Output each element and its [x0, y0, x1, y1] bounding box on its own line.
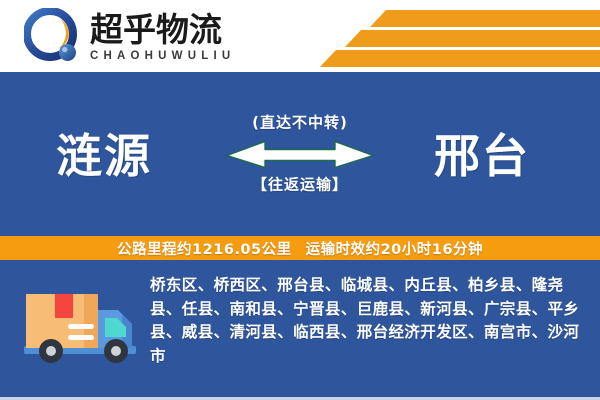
- logo-text-block: 超乎物流 CHAOHUWULIU: [90, 12, 235, 63]
- banner-header: 超乎物流 CHAOHUWULIU: [0, 0, 600, 72]
- duration-text: 运输时效约20小时16分钟: [306, 238, 483, 259]
- route-panel: 涟源 (直达不中转) 【往返运输】 邢台: [0, 72, 600, 234]
- stripe-middle: [345, 30, 600, 47]
- stripe-bottom: [320, 50, 600, 67]
- service-area-list: 桥东区、桥西区、邢台县、临城县、内丘县、柏乡县、隆尧县、任县、南和县、宁晋县、巨…: [150, 262, 600, 368]
- brand-name-cn: 超乎物流: [90, 12, 235, 48]
- distance-text: 公路里程约1216.05公里: [117, 238, 292, 259]
- stripe-top: [370, 10, 600, 27]
- direct-shipping-note: (直达不中转): [205, 112, 395, 133]
- double-headed-arrow-icon: [205, 135, 395, 171]
- circle-crescent-logo-icon: [24, 8, 82, 66]
- service-area-panel: 桥东区、桥西区、邢台县、临城县、内丘县、柏乡县、隆尧县、任县、南和县、宁晋县、巨…: [0, 262, 600, 400]
- destination-city: 邢台: [434, 120, 530, 186]
- round-trip-note: 【往返运输】: [205, 174, 395, 195]
- delivery-truck-icon: [0, 262, 150, 372]
- logistics-route-banner: 超乎物流 CHAOHUWULIU 涟源 (直达不中转) 【往返运输】 邢台: [0, 0, 600, 400]
- origin-city: 涟源: [56, 120, 152, 186]
- route-arrow-block: (直达不中转) 【往返运输】: [205, 112, 395, 195]
- decorative-orange-stripes: [310, 0, 600, 72]
- company-logo: 超乎物流 CHAOHUWULIU: [24, 8, 235, 66]
- route-info-bar: 公路里程约1216.05公里 运输时效约20小时16分钟: [0, 234, 600, 262]
- brand-name-en: CHAOHUWULIU: [90, 50, 235, 62]
